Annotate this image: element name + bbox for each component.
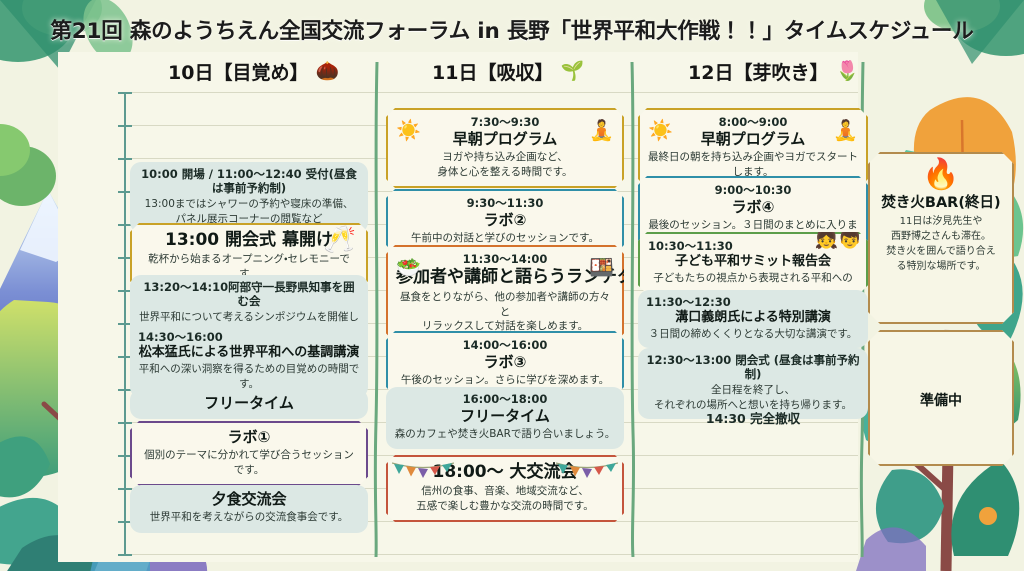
column-divider-stalk <box>372 62 381 557</box>
page-title: 第21回 森のようちえん全国交流フォーラム in 長野「世界平和大作戦！！」タイ… <box>0 14 1024 45</box>
event-morning-program[interactable]: 7:30〜9:30早朝プログラムヨガや持ち込み企画など、身体と心を整える時間です… <box>386 108 624 188</box>
event-description: 世界平和を考えながらの交流食事会です。 <box>138 510 360 525</box>
column-header-day-12: 12日【芽吹き】 🌷 <box>688 58 859 85</box>
bonfire-bar-desc: 11日は汐見先生や西野博之さんも滞在。焚き火を囲んで語り合える特別な場所です。 <box>870 214 1012 274</box>
event-title: 夕食交流会 <box>138 490 360 509</box>
column-header-day-11: 11日【吸収】 🌱 <box>432 58 584 85</box>
event-time: 10:00 開場 / 11:00〜12:40 受付(昼食は事前予約制) <box>138 167 360 196</box>
event-description: 午後のセッション。さらに学びを深めます。 <box>396 373 614 388</box>
event-time: 9:30〜11:30 <box>396 196 614 210</box>
tick-mark <box>118 158 132 160</box>
event-title: 18:00〜 大交流会 <box>396 462 614 483</box>
event-description: 信州の食事、音楽、地域交流など、五感で楽しむ豊かな交流の時間です。 <box>396 484 614 514</box>
campfire-icon: 🔥 <box>870 160 1012 190</box>
event-title: ラボ④ <box>648 198 858 217</box>
event-description: ヨガや持ち込み企画など、身体と心を整える時間です。 <box>396 150 614 180</box>
preparation-label: 準備中 <box>870 390 1012 410</box>
preparation-panel[interactable]: 準備中 <box>868 330 1014 466</box>
day-header-label: 12日【芽吹き】 <box>688 58 828 85</box>
event-title: 溝口義朗氏による特別講演 <box>646 310 860 326</box>
event-description: 昼食をとりながら、他の参加者や講師の方々とリラックスして対話を楽しめます。 <box>396 290 614 335</box>
event-kids-peace-summit[interactable]: 10:30〜11:30子ども平和サミット報告会子どもたちの視点から表現される平和… <box>638 232 868 294</box>
event-lab-1[interactable]: ラボ①個別のテーマに分かれて学び合うセッションです。 <box>130 421 368 486</box>
event-title: 13:00 開会式 幕開け <box>140 230 358 251</box>
tick-mark <box>118 257 132 259</box>
event-grand-social[interactable]: 18:00〜 大交流会信州の食事、音楽、地域交流など、五感で楽しむ豊かな交流の時… <box>386 455 624 522</box>
event-title: 子ども平和サミット報告会 <box>648 254 858 270</box>
column-header-day-10: 10日【目覚め】 🌰 <box>168 58 339 85</box>
event-title: 松本猛氏による世界平和への基調講演 <box>138 345 360 361</box>
event-time: 12:30〜13:00 閉会式 (昼食は事前予約制) <box>646 353 860 382</box>
event-description: 平和への深い洞察を得るための目覚めの時間です。 <box>138 362 360 392</box>
event-lunch-time[interactable]: 11:30〜14:00参加者や講師と語らうランチタイム昼食をとりながら、他の参加… <box>386 245 624 342</box>
event-title: フリータイム <box>138 394 360 413</box>
tick-mark <box>118 488 132 490</box>
watering-can-sprout-icon: 🌱 <box>560 62 584 81</box>
event-description: 森のカフェや焚き火BARで語り合いましょう。 <box>394 427 616 442</box>
tulip-icon: 🌷 <box>835 62 859 81</box>
tick-mark <box>118 125 132 127</box>
gridline <box>128 554 858 555</box>
event-title: ラボ③ <box>396 353 614 372</box>
event-description: 最終日の朝を持ち込み企画やヨガでスタートします。 <box>648 150 858 180</box>
event-time: 9:00〜10:30 <box>648 183 858 197</box>
event-free-time[interactable]: フリータイム <box>130 389 368 419</box>
bonfire-bar-title: 焚き火BAR(終日) <box>870 191 1012 212</box>
event-free-time-2[interactable]: 16:00〜18:00フリータイム森のカフェや焚き火BARで語り合いましょう。 <box>386 387 624 449</box>
event-title: 参加者や講師と語らうランチタイム <box>396 267 614 288</box>
event-description: ３日間の締めくくりとなる大切な講演です。 <box>646 327 860 342</box>
event-description: 個別のテーマに分かれて学び合うセッションです。 <box>140 448 358 478</box>
column-divider-stalk <box>628 62 637 557</box>
event-morning-program-2[interactable]: 8:00〜9:00早朝プログラム最終日の朝を持ち込み企画やヨガでスタートします。… <box>638 108 868 188</box>
event-title: 早朝プログラム <box>648 130 858 149</box>
tick-mark <box>118 422 132 424</box>
event-lab-2[interactable]: 9:30〜11:30ラボ②午前中の対話と学びのセッションです。 <box>386 189 624 254</box>
event-full-teardown: 14:30 完全撤収 <box>638 408 868 427</box>
event-description: 午前中の対話と学びのセッションです。 <box>396 231 614 246</box>
event-time: 11:30〜14:00 <box>396 252 614 266</box>
gridline <box>128 92 858 93</box>
soil-seed-icon: 🌰 <box>315 62 339 81</box>
day-header-label: 10日【目覚め】 <box>168 58 308 85</box>
tick-mark <box>118 455 132 457</box>
event-keynote[interactable]: 14:30〜16:00松本猛氏による世界平和への基調講演平和への深い洞察を得るた… <box>130 325 368 398</box>
tick-mark <box>118 554 132 556</box>
event-title: ラボ① <box>140 428 358 447</box>
event-title: 早朝プログラム <box>396 130 614 149</box>
event-description: 子どもたちの視点から表現される平和への <box>648 271 858 286</box>
tick-mark <box>118 92 132 94</box>
event-dinner-social[interactable]: 夕食交流会世界平和を考えながらの交流食事会です。 <box>130 485 368 533</box>
event-time: 8:00〜9:00 <box>648 115 858 129</box>
event-time: 16:00〜18:00 <box>394 392 616 406</box>
bonfire-bar-panel[interactable]: 🔥 焚き火BAR(終日) 11日は汐見先生や西野博之さんも滞在。焚き火を囲んで語… <box>868 152 1014 324</box>
event-time: 14:30〜16:00 <box>138 330 360 345</box>
event-time: 13:20〜14:10阿部守一長野県知事を囲む会 <box>138 280 360 309</box>
event-title: ラボ② <box>396 211 614 230</box>
event-time: 7:30〜9:30 <box>396 115 614 129</box>
event-description: 13:00まではシャワーの予約や寝床の準備、パネル展示コーナーの閲覧など <box>138 197 360 227</box>
event-time: 11:30〜12:30 <box>646 295 860 310</box>
event-reception[interactable]: 10:00 開場 / 11:00〜12:40 受付(昼食は事前予約制)13:00… <box>130 162 368 233</box>
event-time: 10:30〜11:30 <box>648 239 858 254</box>
event-special-lecture[interactable]: 11:30〜12:30溝口義朗氏による特別講演３日間の締めくくりとなる大切な講演… <box>638 290 868 348</box>
day-header-label: 11日【吸収】 <box>432 58 553 85</box>
event-time: 14:00〜16:00 <box>396 338 614 352</box>
event-title: フリータイム <box>394 407 616 426</box>
